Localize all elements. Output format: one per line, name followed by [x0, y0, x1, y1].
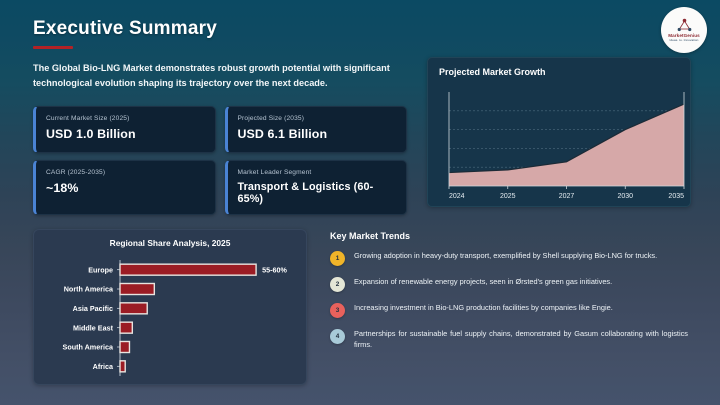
- trend-number-badge: 2: [330, 277, 345, 292]
- trend-list: 1Growing adoption in heavy-duty transpor…: [330, 250, 692, 350]
- kpi-label: Current Market Size (2025): [46, 115, 205, 122]
- projected-market-growth-chart: 20242025202720302035: [428, 84, 692, 206]
- area-fill: [449, 104, 684, 186]
- kpi-label: Market Leader Segment: [238, 169, 397, 176]
- kpi-card-cagr[interactable]: CAGR (2025-2035) ~18%: [33, 160, 216, 215]
- x-tick-label: 2030: [617, 193, 633, 200]
- trends-heading: Key Market Trends: [330, 231, 692, 241]
- bar-category-label: South America: [63, 343, 114, 352]
- trend-text: Partnerships for sustainable fuel supply…: [354, 328, 692, 350]
- bar-category-label: Asia Pacific: [73, 304, 113, 313]
- logo-tagline: Ideas. to. Innovation: [670, 39, 699, 42]
- trend-text: Growing adoption in heavy-duty transport…: [354, 250, 661, 261]
- bar: [120, 361, 125, 372]
- trend-text: Increasing investment in Bio-LNG product…: [354, 302, 617, 313]
- x-tick-label: 2025: [500, 193, 516, 200]
- kpi-card-market-leader-segment[interactable]: Market Leader Segment Transport & Logist…: [225, 160, 408, 215]
- page-title: Executive Summary: [33, 18, 217, 40]
- bar-category-label: Africa: [93, 362, 114, 371]
- trend-number-badge: 1: [330, 251, 345, 266]
- network-node-icon: [676, 18, 693, 33]
- kpi-label: CAGR (2025-2035): [46, 169, 205, 176]
- header: Executive Summary: [33, 18, 217, 49]
- chart-title-growth: Projected Market Growth: [439, 67, 546, 77]
- trend-item[interactable]: 3Increasing investment in Bio-LNG produc…: [330, 302, 692, 318]
- trend-number-badge: 3: [330, 303, 345, 318]
- kpi-value: USD 6.1 Billion: [238, 127, 397, 141]
- bar: [120, 264, 256, 275]
- bar-category-label: Middle East: [73, 323, 114, 332]
- bar: [120, 342, 129, 353]
- trend-item[interactable]: 4Partnerships for sustainable fuel suppl…: [330, 328, 692, 350]
- trend-text: Expansion of renewable energy projects, …: [354, 276, 616, 287]
- brand-logo: MarketGenius Ideas. to. Innovation: [661, 7, 707, 53]
- kpi-card-grid: Current Market Size (2025) USD 1.0 Billi…: [33, 106, 407, 215]
- bar-category-label: Europe: [88, 265, 113, 274]
- chart-title-regional: Regional Share Analysis, 2025: [34, 238, 306, 248]
- x-tick-label: 2027: [559, 193, 575, 200]
- kpi-value: USD 1.0 Billion: [46, 127, 205, 141]
- bar-value-label: 55-60%: [262, 265, 287, 274]
- x-tick-label: 2035: [668, 193, 684, 200]
- trend-item[interactable]: 2Expansion of renewable energy projects,…: [330, 276, 692, 292]
- bar: [120, 322, 132, 333]
- regional-share-panel: Regional Share Analysis, 2025 Europe55-6…: [33, 229, 307, 385]
- bar-category-label: North America: [64, 285, 114, 294]
- trend-number-badge: 4: [330, 329, 345, 344]
- title-underline-rule: [33, 46, 73, 49]
- projected-market-growth-panel: Projected Market Growth 2024202520272030…: [427, 57, 691, 207]
- slide-root: Executive Summary The Global Bio-LNG Mar…: [0, 0, 720, 405]
- key-market-trends: Key Market Trends 1Growing adoption in h…: [330, 231, 692, 360]
- trend-item[interactable]: 1Growing adoption in heavy-duty transpor…: [330, 250, 692, 266]
- kpi-row-2: CAGR (2025-2035) ~18% Market Leader Segm…: [33, 160, 407, 215]
- kpi-value: Transport & Logistics (60-65%): [238, 181, 397, 205]
- kpi-card-current-market-size[interactable]: Current Market Size (2025) USD 1.0 Billi…: [33, 106, 216, 153]
- bar: [120, 303, 147, 314]
- bar: [120, 284, 154, 295]
- subheadline: The Global Bio-LNG Market demonstrates r…: [33, 61, 405, 91]
- regional-share-chart: Europe55-60%North AmericaAsia PacificMid…: [34, 254, 308, 384]
- kpi-value: ~18%: [46, 181, 205, 195]
- kpi-row-1: Current Market Size (2025) USD 1.0 Billi…: [33, 106, 407, 153]
- kpi-card-projected-size[interactable]: Projected Size (2035) USD 6.1 Billion: [225, 106, 408, 153]
- x-tick-label: 2024: [449, 193, 465, 200]
- kpi-label: Projected Size (2035): [238, 115, 397, 122]
